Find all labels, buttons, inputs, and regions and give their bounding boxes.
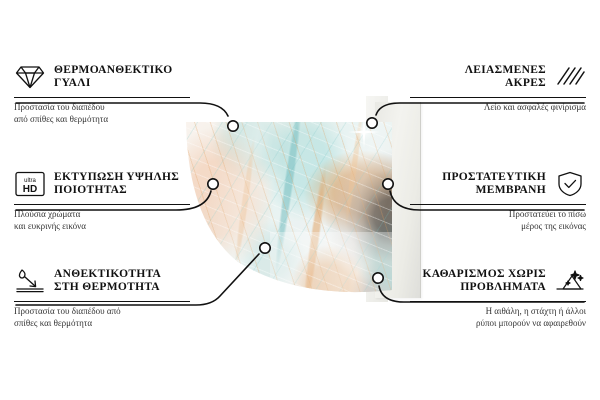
feature-header: ultra HD ΕΚΤΥΠΩΣΗ ΥΨΗΛΗΣ ΠΟΙΟΤΗΤΑΣ	[14, 169, 190, 199]
divider	[410, 97, 586, 98]
feature-title: ΑΝΘΕΚΤΙΚΟΤΗΤΑ ΣΤΗ ΘΕΡΜΟΤΗΤΑ	[54, 268, 161, 294]
feature-subtitle-line1: Λείο και ασφαλές φινίρισμα	[410, 102, 586, 114]
product-image	[180, 92, 420, 322]
feature-heat-resistant-glass: ΘΕΡΜΟΑΝΘΕΚΤΙΚΟ ΓΥΑΛΙ Προστασία του διαπέ…	[14, 62, 190, 125]
divider	[14, 301, 190, 302]
glass-panel	[180, 92, 420, 322]
feature-subtitle-line1: Πλούσια χρώματα	[14, 209, 190, 221]
feature-header: ΚΑΘΑΡΙΣΜΟΣ ΧΩΡΙΣ ΠΡΟΒΛΗΜΑΤΑ	[410, 266, 586, 296]
sparkle-icon	[346, 114, 382, 150]
feature-subtitle-line2: σπίθες και θερμότητα	[14, 318, 190, 330]
divider	[14, 97, 190, 98]
feature-header: ΛΕΙΑΣΜΕΝΕΣ ΑΚΡΕΣ	[410, 62, 586, 92]
feature-header: ΠΡΟΣΤΑΤΕΥΤΙΚΗ ΜΕΜΒΡΑΝΗ	[410, 169, 586, 199]
feature-protective-membrane: ΠΡΟΣΤΑΤΕΥΤΙΚΗ ΜΕΜΒΡΑΝΗ Προστατεύει το πί…	[410, 169, 586, 232]
divider	[14, 204, 190, 205]
infographic-stage: ΘΕΡΜΟΑΝΘΕΚΤΙΚΟ ΓΥΑΛΙ Προστασία του διαπέ…	[0, 0, 600, 400]
feature-title: ΠΡΟΣΤΑΤΕΥΤΙΚΗ ΜΕΜΒΡΑΝΗ	[442, 171, 546, 197]
feature-high-quality-print: ultra HD ΕΚΤΥΠΩΣΗ ΥΨΗΛΗΣ ΠΟΙΟΤΗΤΑΣ Πλούσ…	[14, 169, 190, 232]
feature-subtitle-line1: Προστασία του διαπέδου	[14, 102, 190, 114]
feature-title: ΘΕΡΜΟΑΝΘΕΚΤΙΚΟ ΓΥΑΛΙ	[54, 64, 173, 90]
feature-subtitle-line2: και ευκρινής εικόνα	[14, 221, 190, 233]
easy-clean-icon	[554, 266, 586, 296]
diamond-icon	[14, 62, 46, 92]
feature-subtitle-line2: από σπίθες και θερμότητα	[14, 114, 190, 126]
feature-smooth-edges: ΛΕΙΑΣΜΕΝΕΣ ΑΚΡΕΣ Λείο και ασφαλές φινίρι…	[410, 62, 586, 114]
heat-resistant-icon	[14, 266, 46, 296]
feature-subtitle-line1: Η αιθάλη, η στάχτη ή άλλοι	[410, 306, 586, 318]
ultra-hd-icon: ultra HD	[14, 169, 46, 199]
smooth-edges-icon	[554, 62, 586, 92]
feature-title: ΛΕΙΑΣΜΕΝΕΣ ΑΚΡΕΣ	[465, 64, 546, 90]
svg-text:HD: HD	[23, 184, 37, 195]
feature-header: ΑΝΘΕΚΤΙΚΟΤΗΤΑ ΣΤΗ ΘΕΡΜΟΤΗΤΑ	[14, 266, 190, 296]
feature-header: ΘΕΡΜΟΑΝΘΕΚΤΙΚΟ ΓΥΑΛΙ	[14, 62, 190, 92]
feature-heat-durability: ΑΝΘΕΚΤΙΚΟΤΗΤΑ ΣΤΗ ΘΕΡΜΟΤΗΤΑ Προστασία το…	[14, 266, 190, 329]
feature-subtitle-line1: Προστασία του διαπέδου από	[14, 306, 190, 318]
divider	[410, 204, 586, 205]
shield-check-icon	[554, 169, 586, 199]
feature-easy-cleaning: ΚΑΘΑΡΙΣΜΟΣ ΧΩΡΙΣ ΠΡΟΒΛΗΜΑΤΑ Η αιθάλη, η …	[410, 266, 586, 329]
glass-reflection-band	[270, 232, 392, 298]
feature-subtitle-line2: ρύποι μπορούν να αφαιρεθούν	[410, 318, 586, 330]
feature-subtitle-line2: μέρος της εικόνας	[410, 221, 586, 233]
feature-title: ΚΑΘΑΡΙΣΜΟΣ ΧΩΡΙΣ ΠΡΟΒΛΗΜΑΤΑ	[422, 268, 546, 294]
divider	[410, 301, 586, 302]
feature-subtitle-line1: Προστατεύει το πίσω	[410, 209, 586, 221]
feature-title: ΕΚΤΥΠΩΣΗ ΥΨΗΛΗΣ ΠΟΙΟΤΗΤΑΣ	[54, 171, 179, 197]
